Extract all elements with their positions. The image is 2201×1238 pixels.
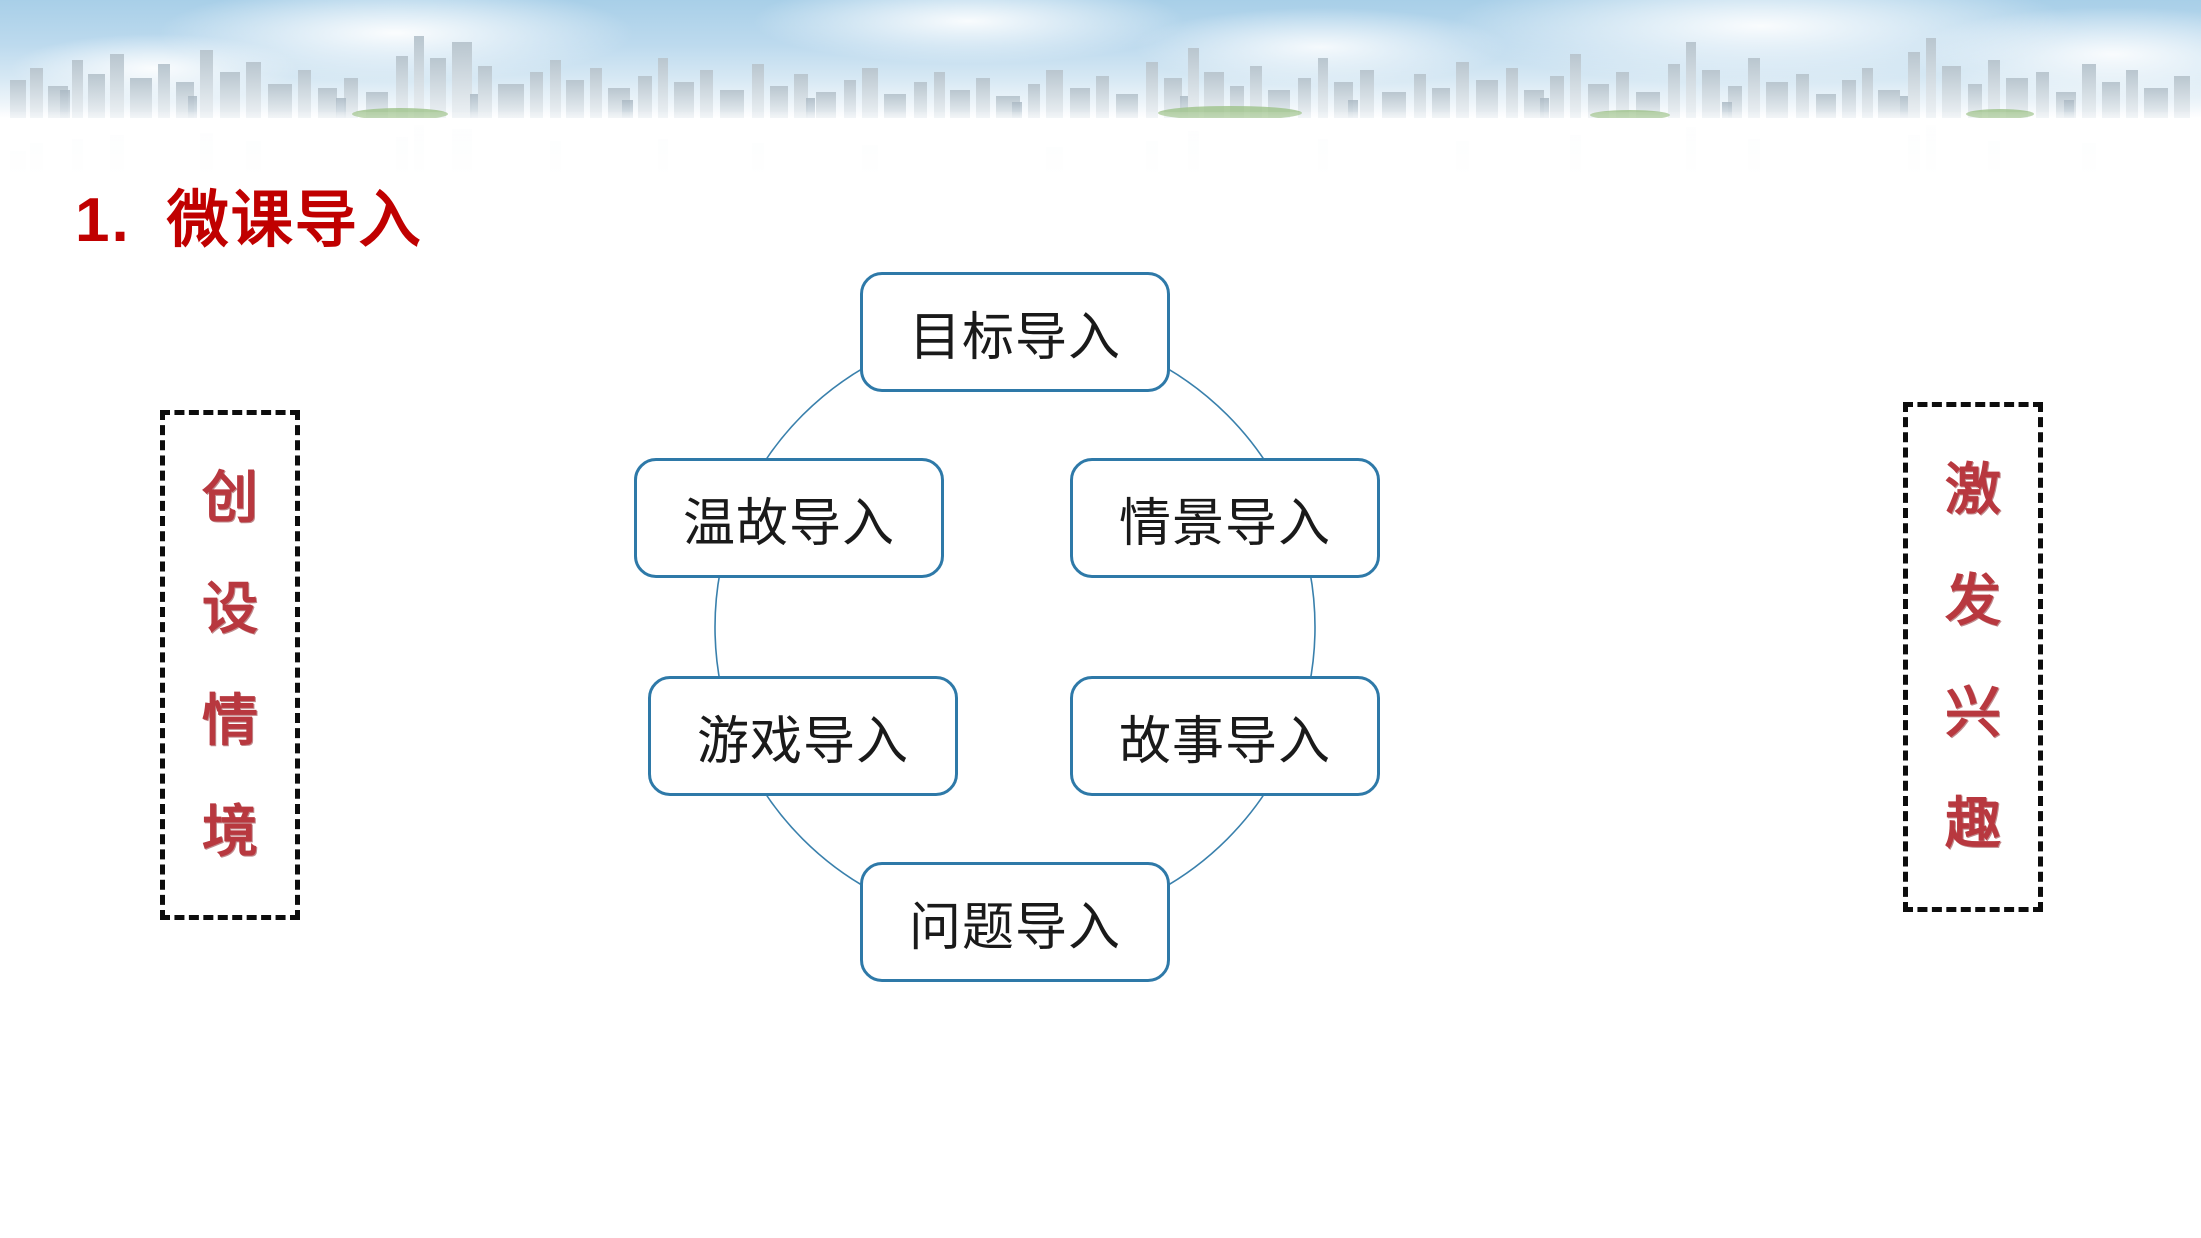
- page-title: 1.微课导入: [75, 188, 423, 253]
- cycle-node-story[interactable]: 故事导入: [1070, 676, 1380, 796]
- right-banner-char-4: 趣: [1945, 796, 2001, 852]
- cycle-node-review-label: 温故导入: [683, 481, 895, 556]
- left-banner-char-1: 创: [202, 470, 258, 526]
- cycle-node-question-label: 问题导入: [909, 885, 1121, 960]
- cycle-node-target[interactable]: 目标导入: [860, 272, 1170, 392]
- page-title-number: 1.: [75, 186, 131, 255]
- cycle-node-game[interactable]: 游戏导入: [648, 676, 958, 796]
- left-banner-char-2: 设: [202, 581, 258, 637]
- page-title-text: 微课导入: [167, 186, 423, 255]
- cycle-node-game-label: 游戏导入: [697, 699, 909, 774]
- city-skyline-banner: [0, 0, 2201, 175]
- cycle-diagram: 目标导入 情景导入 故事导入 问题导入 游戏导入 温故导入: [600, 270, 1560, 1170]
- right-vertical-banner: 激 发 兴 趣: [1903, 402, 2043, 912]
- cycle-node-story-label: 故事导入: [1119, 699, 1331, 774]
- skyline-reflection: [0, 118, 2201, 175]
- left-banner-char-3: 情: [202, 693, 258, 749]
- right-banner-char-1: 激: [1945, 462, 2001, 518]
- cycle-node-target-label: 目标导入: [909, 295, 1121, 370]
- cycle-node-question[interactable]: 问题导入: [860, 862, 1170, 982]
- left-banner-char-4: 境: [202, 804, 258, 860]
- skyline-silhouette: [0, 28, 2201, 118]
- cycle-node-scenario[interactable]: 情景导入: [1070, 458, 1380, 578]
- right-banner-char-2: 发: [1945, 573, 2001, 629]
- cycle-node-scenario-label: 情景导入: [1119, 481, 1331, 556]
- left-vertical-banner: 创 设 情 境: [160, 410, 300, 920]
- cycle-node-review[interactable]: 温故导入: [634, 458, 944, 578]
- right-banner-char-3: 兴: [1945, 685, 2001, 741]
- slide: 1.微课导入 创 设 情 境 激 发 兴 趣 目标导入 情景导入 故事导入 问题…: [0, 0, 2201, 1238]
